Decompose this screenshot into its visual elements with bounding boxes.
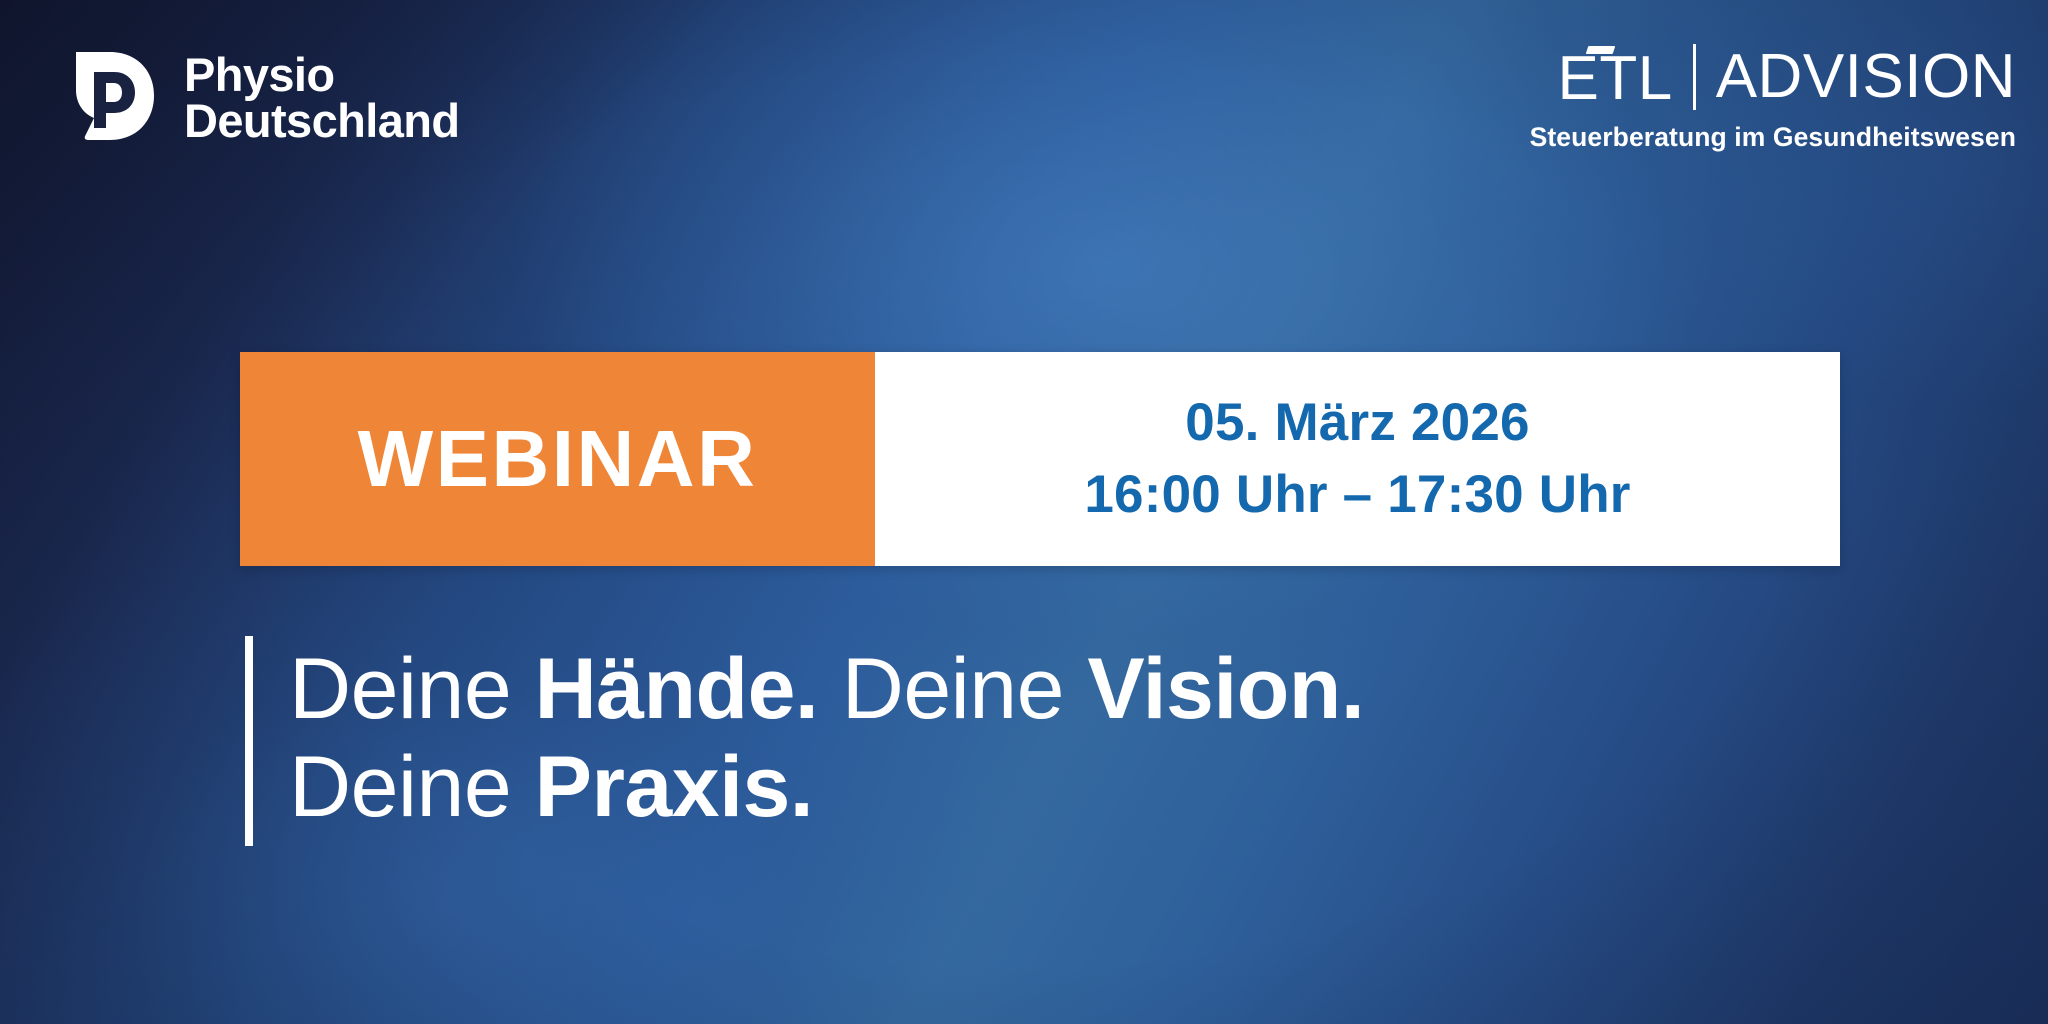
physio-deutschland-logo: Physio Deutschland: [58, 46, 459, 150]
etl-accent-tick-icon: [1586, 46, 1616, 54]
headline-line-1-word-3: Deine: [818, 641, 1087, 737]
advision-name: ADVISION: [1716, 46, 2016, 108]
headline-line-1-word-4: Vision.: [1087, 641, 1364, 737]
webinar-badge: WEBINAR: [240, 352, 875, 566]
event-time: 16:00 Uhr – 17:30 Uhr: [1084, 461, 1630, 529]
etl-divider: [1693, 44, 1696, 110]
event-band: WEBINAR 05. März 2026 16:00 Uhr – 17:30 …: [240, 352, 1840, 566]
physio-deutschland-d-monogram-icon: [58, 46, 162, 150]
webinar-banner: Physio Deutschland ETL ADVISION Steuerbe…: [0, 0, 2048, 1024]
event-date: 05. März 2026: [1185, 389, 1529, 457]
etl-tagline: Steuerberatung im Gesundheitswesen: [1530, 122, 2016, 153]
headline-accent-bar: [245, 636, 253, 846]
physio-logo-line-1: Physio: [184, 52, 459, 98]
headline-line-1-word-2: Hände.: [535, 641, 819, 737]
physio-deutschland-wordmark: Physio Deutschland: [184, 52, 459, 144]
headline-line-2: Deine Praxis.: [289, 738, 1364, 836]
webinar-badge-label: WEBINAR: [358, 413, 758, 505]
etl-mark-text: ETL: [1557, 44, 1672, 113]
etl-advision-logo: ETL ADVISION Steuerberatung im Gesundhei…: [1530, 44, 2016, 153]
headline-line-1-word-1: Deine: [289, 641, 535, 737]
headline-block: Deine Hände. Deine Vision. Deine Praxis.: [245, 636, 1364, 846]
event-datetime-panel: 05. März 2026 16:00 Uhr – 17:30 Uhr: [875, 352, 1840, 566]
headline-line-2-word-1: Deine: [289, 739, 535, 835]
headline-line-2-word-2: Praxis.: [535, 739, 814, 835]
physio-logo-line-2: Deutschland: [184, 98, 459, 144]
etl-advision-lockup: ETL ADVISION: [1530, 44, 2016, 110]
headline-line-1: Deine Hände. Deine Vision.: [289, 640, 1364, 738]
headline-text: Deine Hände. Deine Vision. Deine Praxis.: [289, 636, 1364, 846]
etl-mark: ETL: [1557, 44, 1672, 110]
